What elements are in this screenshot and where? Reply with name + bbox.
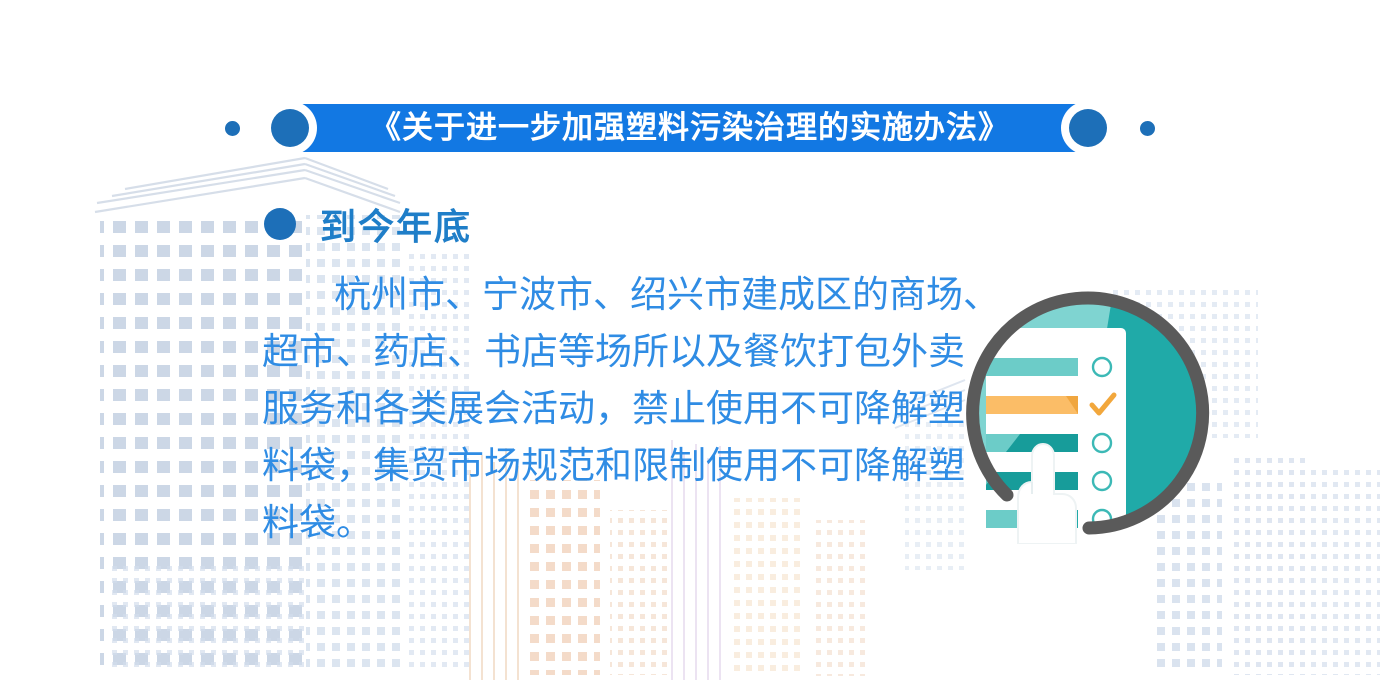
poster-root: 《关于进一步加强塑料污染治理的实施办法》 到今年底 杭州市、宁波市、绍兴市建成区… — [0, 0, 1400, 700]
body-line: 服务和各类展会活动，禁止使用不可降解塑 — [262, 380, 974, 437]
banner-dot-large-left — [271, 109, 309, 147]
title-banner: 《关于进一步加强塑料污染治理的实施办法》 — [215, 100, 1165, 158]
building-lower-left-blocks — [110, 560, 305, 672]
body-line: 杭州市、宁波市、绍兴市建成区的商场、 — [262, 266, 974, 323]
body-paragraph: 杭州市、宁波市、绍兴市建成区的商场、 超市、药店、书店等场所以及餐饮打包外卖 服… — [262, 266, 974, 551]
page-title: 《关于进一步加强塑料污染治理的实施办法》 — [305, 104, 1075, 152]
checklist-circle-illustration — [962, 282, 1224, 544]
subheading-label: 到今年底 — [320, 198, 472, 250]
banner-dot-small-right — [1140, 121, 1155, 136]
bullet-dot-icon — [264, 208, 296, 240]
body-line: 料袋，集贸市场规范和限制使用不可降解塑 — [262, 437, 974, 494]
body-line: 料袋。 — [262, 494, 974, 551]
subheading: 到今年底 — [264, 198, 472, 250]
banner-dot-small-left — [225, 121, 240, 136]
building-right-b — [1228, 455, 1306, 675]
building-right-c — [1310, 470, 1380, 675]
body-line: 超市、药店、书店等场所以及餐饮打包外卖 — [262, 323, 974, 380]
